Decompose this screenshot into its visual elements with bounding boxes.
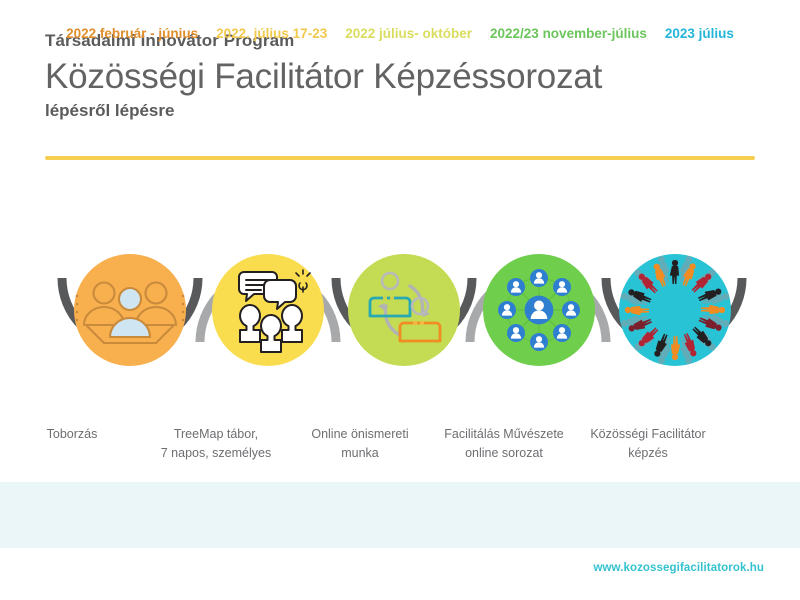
step-label-4-line1: Facilitálás Művészete bbox=[444, 427, 564, 441]
infographic-canvas: Társadalmi Innovátor Program Közösségi F… bbox=[0, 0, 800, 600]
step-5-circle bbox=[619, 254, 731, 366]
step-label-5-line1: Közösségi Facilitátor bbox=[590, 427, 705, 441]
step-4-circle bbox=[483, 254, 595, 366]
date-item-4: 2022/23 november-július bbox=[481, 26, 656, 41]
steps-chain bbox=[0, 230, 800, 410]
timeline-band bbox=[0, 482, 800, 548]
step-2-circle bbox=[212, 254, 324, 366]
step-3-circle bbox=[348, 254, 460, 366]
step-label-3: Online önismereti munka bbox=[288, 425, 432, 485]
step-label-5-line2: képzés bbox=[578, 444, 718, 463]
step-label-1-line1: Toborzás bbox=[47, 427, 98, 441]
step-label-3-line1: Online önismereti bbox=[311, 427, 408, 441]
step-label-1: Toborzás bbox=[0, 425, 144, 485]
timeline-dates: 2022 február - június 2022. július 17-23… bbox=[0, 0, 800, 66]
step-labels: Toborzás TreeMap tábor, 7 napos, személy… bbox=[0, 425, 800, 485]
date-item-5: 2023 július bbox=[656, 26, 743, 41]
step-label-4: Facilitálás Művészete online sorozat bbox=[432, 425, 576, 485]
user-network-icon bbox=[498, 269, 580, 351]
step-1-circle bbox=[74, 254, 186, 366]
date-item-2: 2022. július 17-23 bbox=[207, 26, 336, 41]
step-label-4-line2: online sorozat bbox=[434, 444, 574, 463]
footer-website-url[interactable]: www.kozossegifacilitatorok.hu bbox=[593, 562, 764, 574]
radial-crowd-icon bbox=[619, 254, 730, 365]
step-label-2-line2: 7 napos, személyes bbox=[146, 444, 286, 463]
step-label-3-line2: munka bbox=[290, 444, 430, 463]
step-label-5: Közösségi Facilitátor képzés bbox=[576, 425, 720, 485]
page-subtitle: lépésről lépésre bbox=[45, 100, 757, 121]
header-divider bbox=[45, 156, 755, 160]
step-label-2: TreeMap tábor, 7 napos, személyes bbox=[144, 425, 288, 485]
date-item-1: 2022 február - június bbox=[57, 26, 207, 41]
date-item-3: 2022 július- október bbox=[336, 26, 481, 41]
step-label-2-line1: TreeMap tábor, bbox=[174, 427, 258, 441]
